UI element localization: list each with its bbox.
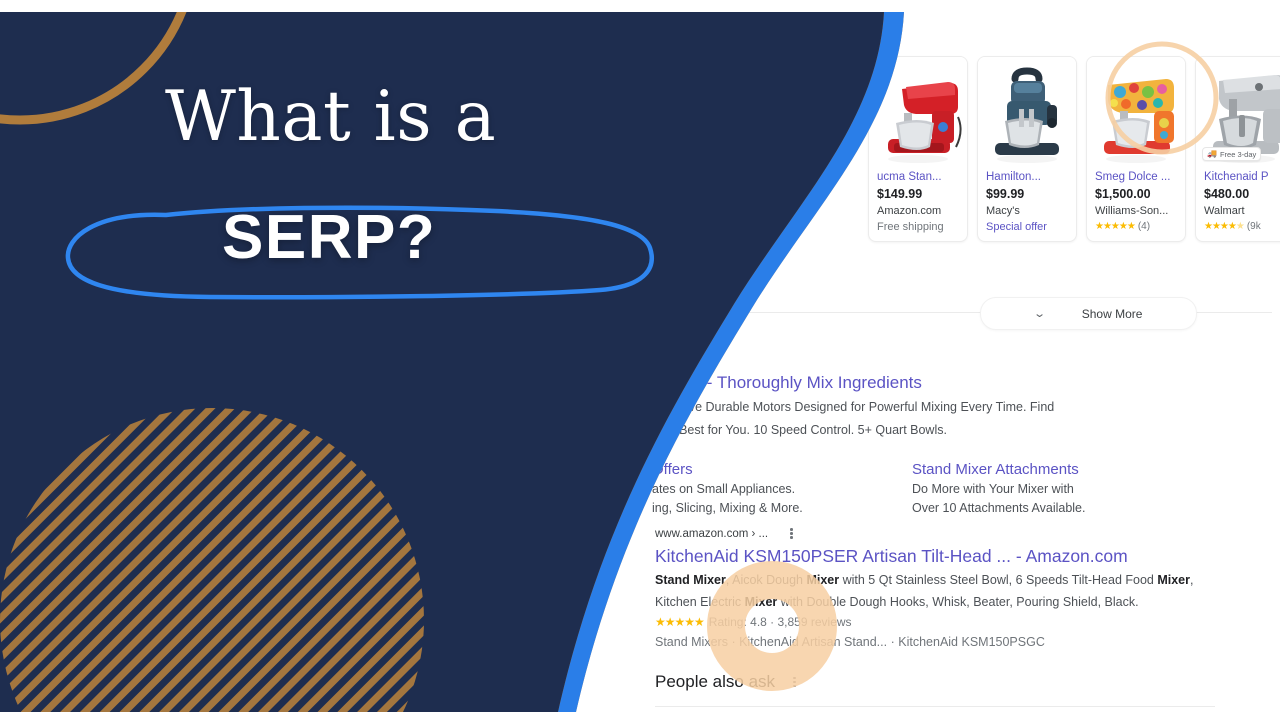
organic-search-result: www.amazon.com › ... KitchenAid KSM150PS… — [655, 527, 1275, 649]
product-image-red-stand-mixer — [869, 57, 967, 165]
more-options-icon[interactable] — [790, 527, 793, 540]
rating-count: (4) — [1138, 221, 1150, 232]
product-card[interactable]: Smeg Dolce ... $1,500.00 Williams-Son...… — [1086, 56, 1186, 242]
slide-headline: What is a — [165, 83, 496, 152]
result-url[interactable]: www.amazon.com › ... — [655, 528, 768, 540]
sitelink-separator: · — [891, 635, 895, 649]
people-also-ask-section: People also ask What is the best stand m… — [655, 672, 1275, 712]
result-sitelink-1[interactable]: Stand Mixers — [655, 635, 728, 649]
product-title[interactable]: Kitchenaid P — [1196, 165, 1280, 183]
shipping-badge-label: Free 3-day — [1220, 150, 1256, 159]
ad-sitelink[interactable]: Stand Mixer Attachments Do More with You… — [912, 460, 1172, 518]
shipping-badge: 🚚 Free 3-day — [1202, 147, 1261, 161]
product-merchant: Macy's — [978, 201, 1076, 217]
sitelink-line-1: Do More with Your Mixer with — [912, 480, 1172, 499]
star-rating-icon: ★★★★★ — [655, 615, 704, 629]
rating-text: Rating: 4.8 · 3,859 reviews — [709, 615, 852, 629]
shopping-ads-carousel: ucma Stan... $149.99 Amazon.com Free shi… — [868, 56, 1280, 242]
product-rating: ★★★★★ (4) — [1087, 217, 1185, 232]
star-rating-icon: ★★★★★ — [1095, 221, 1135, 232]
product-merchant: Walmart — [1196, 201, 1280, 217]
ad-headline[interactable]: Mixers - Thoroughly Mix Ingredients — [652, 372, 1272, 394]
slide-keyword: SERP? — [222, 207, 436, 269]
show-more-label: Show More — [1082, 307, 1143, 321]
result-url-row: www.amazon.com › ... — [655, 527, 1275, 540]
result-sitelinks: Stand Mixers · KitchenAid Artisan Stand.… — [655, 635, 1275, 649]
show-more-button[interactable]: ⌄ Show More — [980, 297, 1197, 330]
ad-sitelink[interactable]: Offers ates on Small Appliances. ing, Sl… — [652, 460, 912, 518]
sitelink-line-1: ates on Small Appliances. — [652, 480, 912, 499]
product-title[interactable]: Hamilton... — [978, 165, 1076, 183]
sitelink-line-2: ing, Slicing, Mixing & More. — [652, 499, 912, 518]
product-price: $149.99 — [869, 183, 967, 201]
ad-description-line-2: er is Best for You. 10 Speed Control. 5+… — [652, 421, 1272, 440]
product-card[interactable]: 🚚 Free 3-day Kitchenaid P $480.00 Walmar… — [1195, 56, 1280, 242]
result-snippet-line-1: Stand Mixer, Aicok Dough Mixer with 5 Qt… — [655, 571, 1275, 590]
sitelink-line-2: Over 10 Attachments Available. — [912, 499, 1172, 518]
result-sitelink-2[interactable]: KitchenAid Artisan Stand... — [739, 635, 887, 649]
text-ad: Mixers - Thoroughly Mix Ingredients ers … — [652, 372, 1272, 518]
sitelink-title[interactable]: Stand Mixer Attachments — [912, 460, 1172, 480]
star-rating-icon: ★★★★★ — [1204, 221, 1244, 232]
product-rating: ★★★★★ (9k — [1196, 217, 1280, 232]
sitelink-separator: · — [731, 635, 735, 649]
rating-count: (9k — [1247, 221, 1261, 232]
more-options-icon[interactable] — [793, 675, 796, 688]
product-merchant: Amazon.com — [869, 201, 967, 217]
product-card[interactable]: Hamilton... $99.99 Macy's Special offer — [977, 56, 1077, 242]
product-price: $480.00 — [1196, 183, 1280, 201]
product-image-blue-stand-mixer — [978, 57, 1076, 165]
product-image-floral-stand-mixer — [1087, 57, 1185, 165]
product-merchant: Williams-Son... — [1087, 201, 1185, 217]
result-snippet-line-2: Kitchen Electric Mixer with Double Dough… — [655, 593, 1275, 612]
product-price: $1,500.00 — [1087, 183, 1185, 201]
product-price: $99.99 — [978, 183, 1076, 201]
product-title[interactable]: ucma Stan... — [869, 165, 967, 183]
paa-divider — [655, 706, 1215, 707]
sitelink-title[interactable]: Offers — [652, 460, 912, 480]
people-also-ask-heading: People also ask — [655, 672, 1275, 692]
product-extra: Free shipping — [869, 217, 967, 233]
result-title-link[interactable]: KitchenAid KSM150PSER Artisan Tilt-Head … — [655, 544, 1275, 568]
product-image-silver-stand-mixer: 🚚 Free 3-day — [1196, 57, 1280, 165]
chevron-down-icon: ⌄ — [1033, 307, 1046, 320]
product-title[interactable]: Smeg Dolce ... — [1087, 165, 1185, 183]
product-card[interactable]: ucma Stan... $149.99 Amazon.com Free shi… — [868, 56, 968, 242]
video-thumbnail-slide: ucma Stan... $149.99 Amazon.com Free shi… — [0, 0, 1280, 720]
delivery-truck-icon: 🚚 — [1207, 150, 1217, 158]
result-rating: ★★★★★ Rating: 4.8 · 3,859 reviews — [655, 615, 1275, 629]
product-special-offer: Special offer — [978, 217, 1076, 233]
paa-heading-label: People also ask — [655, 672, 775, 692]
ad-description-line-1: ers Have Durable Motors Designed for Pow… — [652, 398, 1272, 417]
ad-sitelinks: Offers ates on Small Appliances. ing, Sl… — [652, 460, 1272, 518]
result-sitelink-3[interactable]: KitchenAid KSM150PSGC — [898, 635, 1045, 649]
